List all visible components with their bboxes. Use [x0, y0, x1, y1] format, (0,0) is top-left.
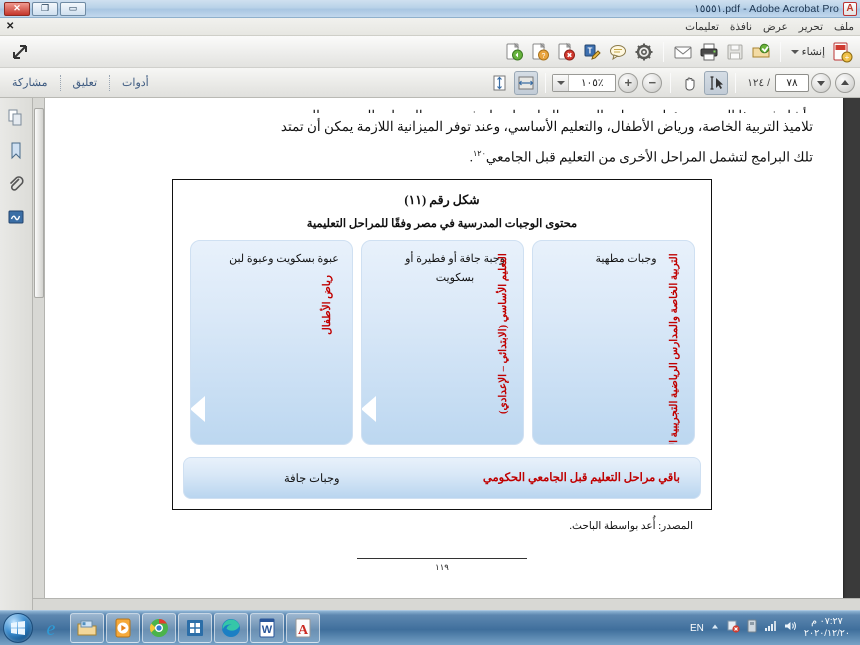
volume-icon[interactable]: [784, 619, 798, 637]
main-toolbar: ? T: [0, 36, 860, 68]
taskbar-google-chrome[interactable]: [142, 613, 176, 643]
stage-kindergarten: عبوة بسكويت وعبوة لبن رياض الأطفال: [190, 240, 353, 445]
create-pdf-primary-icon[interactable]: +: [830, 40, 854, 64]
stage-name-label: رياض الأطفال: [322, 275, 334, 335]
bookmarks-icon[interactable]: [4, 139, 28, 163]
page-number-input[interactable]: ٧٨: [775, 74, 809, 92]
start-button[interactable]: [3, 613, 33, 643]
toolbar-separator-2: [780, 42, 781, 62]
zoom-level-value[interactable]: ١٠٥٪: [569, 77, 615, 89]
svg-text:T: T: [587, 46, 592, 55]
removable-media-icon[interactable]: [746, 619, 758, 638]
footnote-reference: ١٢٠: [473, 149, 486, 158]
taskbar-media-player[interactable]: [106, 613, 140, 643]
menu-bar: ✕ ملف تحرير عرض نافذة تعليمات: [0, 18, 860, 36]
close-window-button[interactable]: ✕: [4, 2, 30, 16]
zoom-level-combobox[interactable]: ١٠٥٪: [552, 74, 616, 92]
document-body-text: وأشار في هذا الصدد مسؤولون بوزارة التربي…: [41, 98, 843, 171]
paragraph-line-2: تلاميذ التربية الخاصة، ورياض الأطفال، وا…: [71, 113, 813, 140]
create-button-label: إنشاء: [802, 46, 825, 58]
taskbar-clock[interactable]: ٠٧:٢٧ م ٢٠٢٠/١٢/٢٠: [804, 616, 854, 640]
panel-comment-button[interactable]: تعليق: [61, 76, 110, 89]
comment-bubble-icon[interactable]: [606, 40, 630, 64]
expand-panel-icon[interactable]: [8, 40, 32, 64]
create-button[interactable]: إنشاء: [787, 46, 829, 58]
email-icon[interactable]: [671, 40, 695, 64]
panel-separator-2: [60, 75, 61, 91]
show-hidden-icons-arrow[interactable]: [710, 619, 720, 637]
figure-caption: محتوى الوجبات المدرسية في مصر وفقًا للمر…: [173, 210, 711, 240]
stage-special-experimental: وجبات مطهية التربية الخاصة والمدارس الري…: [532, 240, 695, 445]
pdf-page: وأشار في هذا الصدد مسؤولون بوزارة التربي…: [41, 98, 843, 610]
menu-window[interactable]: نافذة: [730, 21, 752, 33]
horizontal-scrollbar[interactable]: [33, 598, 860, 610]
chevron-down-icon: [791, 50, 799, 54]
taskbar-adobe-reader[interactable]: A: [286, 613, 320, 643]
bottom-bar-stage-label: باقي مراحل التعليم قبل الجامعي الحكومي: [483, 470, 680, 484]
panel-separator-1: [109, 75, 110, 91]
toolbar-separator-1: [663, 42, 664, 62]
zoom-out-button[interactable]: −: [642, 73, 662, 93]
clock-time: ٠٧:٢٧ م: [804, 616, 850, 628]
svg-text:e: e: [47, 618, 56, 640]
open-file-icon[interactable]: [749, 40, 773, 64]
attachments-icon[interactable]: [4, 172, 28, 196]
stage-name-label: التربية الخاصة والمدارس الرياضية التجريب…: [669, 253, 681, 433]
stage-meal-label: وجبة جافة أو فطيرة أو بسكويت: [398, 250, 513, 288]
navigation-pane-rail: [0, 98, 33, 610]
window-title: ١٥٥٥١.pdf - Adobe Acrobat Pro: [694, 3, 843, 15]
network-signal-icon[interactable]: [764, 619, 778, 637]
open-folder-icon[interactable]: ?: [528, 40, 552, 64]
acrobat-app-icon: A: [843, 2, 857, 16]
menu-help[interactable]: تعليمات: [685, 21, 719, 33]
vertical-scrollbar[interactable]: [33, 98, 45, 610]
figure-11: شكل رقم (١١) محتوى الوجبات المدرسية في م…: [172, 179, 712, 510]
fit-width-icon[interactable]: [514, 71, 538, 95]
paragraph-line-3: تلك البرامج لتشمل المراحل الأخرى من التع…: [71, 140, 813, 171]
stage-meal-label: وجبات مطهية: [569, 250, 684, 269]
delete-page-icon[interactable]: [554, 40, 578, 64]
taskbar-microsoft-edge[interactable]: [214, 613, 248, 643]
page-up-icon[interactable]: [835, 73, 855, 93]
window-controls: ✕ ❐ ▭: [0, 2, 86, 16]
svg-text:?: ?: [541, 53, 545, 60]
stage-meal-label: عبوة بسكويت وعبوة لبن: [227, 250, 342, 269]
page-down-icon[interactable]: [811, 73, 831, 93]
hand-tool-icon[interactable]: [678, 71, 702, 95]
create-pdf-icon[interactable]: [502, 40, 526, 64]
text-edit-icon[interactable]: T: [580, 40, 604, 64]
page-total-label: ١٢٤ /: [747, 77, 770, 89]
stage-name-label: التعليم الأساسي (الابتدائي – الإعدادي): [498, 253, 510, 433]
system-tray: EN: [690, 616, 860, 640]
page-footnote-text: ١١٩: [41, 559, 843, 571]
zoom-dropdown-arrow-icon[interactable]: [553, 75, 569, 91]
minimize-window-button[interactable]: ▭: [60, 2, 86, 16]
stage-basic-education: وجبة جافة أو فطيرة أو بسكويت التعليم الأ…: [361, 240, 524, 445]
paragraph-line-clipped: وأشار في هذا الصدد مسؤولون بوزارة التربي…: [71, 102, 813, 113]
zoom-in-button[interactable]: +: [618, 73, 638, 93]
figure-source-note: المصدر: أُعد بواسطة الباحث.: [41, 510, 843, 532]
menu-file[interactable]: ملف: [834, 21, 854, 33]
svg-text:A: A: [298, 623, 309, 638]
restore-window-button[interactable]: ❐: [32, 2, 58, 16]
taskbar-internet-explorer[interactable]: e: [34, 613, 68, 643]
fit-page-icon[interactable]: [488, 71, 512, 95]
bottom-bar-meal-label: وجبات جافة: [284, 471, 340, 485]
menu-edit[interactable]: تحرير: [799, 21, 823, 33]
taskbar-microsoft-word[interactable]: W: [250, 613, 284, 643]
figure-bottom-bar: باقي مراحل التعليم قبل الجامعي الحكومي و…: [183, 457, 701, 499]
document-viewport[interactable]: وأشار في هذا الصدد مسؤولون بوزارة التربي…: [33, 98, 860, 610]
vertical-scrollbar-thumb[interactable]: [34, 108, 44, 298]
menu-view[interactable]: عرض: [763, 21, 788, 33]
figure-number-title: شكل رقم (١١): [173, 188, 711, 210]
clock-date: ٢٠٢٠/١٢/٢٠: [804, 628, 850, 640]
panel-tools-button[interactable]: أدوات: [110, 76, 161, 89]
right-panel-buttons: أدوات تعليق مشاركة: [0, 75, 161, 91]
page-thumbnails-icon[interactable]: [4, 106, 28, 130]
language-indicator[interactable]: EN: [690, 623, 704, 634]
windows-taskbar: e: [0, 610, 860, 645]
taskbar-windows-store[interactable]: [178, 613, 212, 643]
flow-arrow-icon: [190, 396, 205, 422]
close-document-button[interactable]: ✕: [6, 21, 14, 32]
signatures-icon[interactable]: [4, 205, 28, 229]
view-toolbar: أدوات تعليق مشاركة ١٠٥٪ +: [0, 68, 860, 98]
figure-stage-row: وجبات مطهية التربية الخاصة والمدارس الري…: [173, 240, 711, 445]
toolbar2-separator-3: [735, 73, 736, 93]
svg-text:+: +: [845, 53, 850, 62]
svg-text:W: W: [262, 624, 273, 636]
toolbar2-separator-1: [545, 73, 546, 93]
security-alert-icon[interactable]: [726, 619, 740, 638]
toolbar2-separator-2: [670, 73, 671, 93]
menu-items: ملف تحرير عرض نافذة تعليمات: [685, 21, 860, 33]
save-icon[interactable]: [723, 40, 747, 64]
flow-arrow-icon: [361, 396, 376, 422]
panel-share-button[interactable]: مشاركة: [0, 76, 60, 89]
print-icon[interactable]: [697, 40, 721, 64]
taskbar-file-explorer[interactable]: [70, 613, 104, 643]
title-bar: ✕ ❐ ▭ ١٥٥٥١.pdf - Adobe Acrobat Pro A: [0, 0, 860, 18]
acrobat-window: ✕ ❐ ▭ ١٥٥٥١.pdf - Adobe Acrobat Pro A ✕ …: [0, 0, 860, 645]
settings-gear-icon[interactable]: [632, 40, 656, 64]
select-tool-icon[interactable]: [704, 71, 728, 95]
